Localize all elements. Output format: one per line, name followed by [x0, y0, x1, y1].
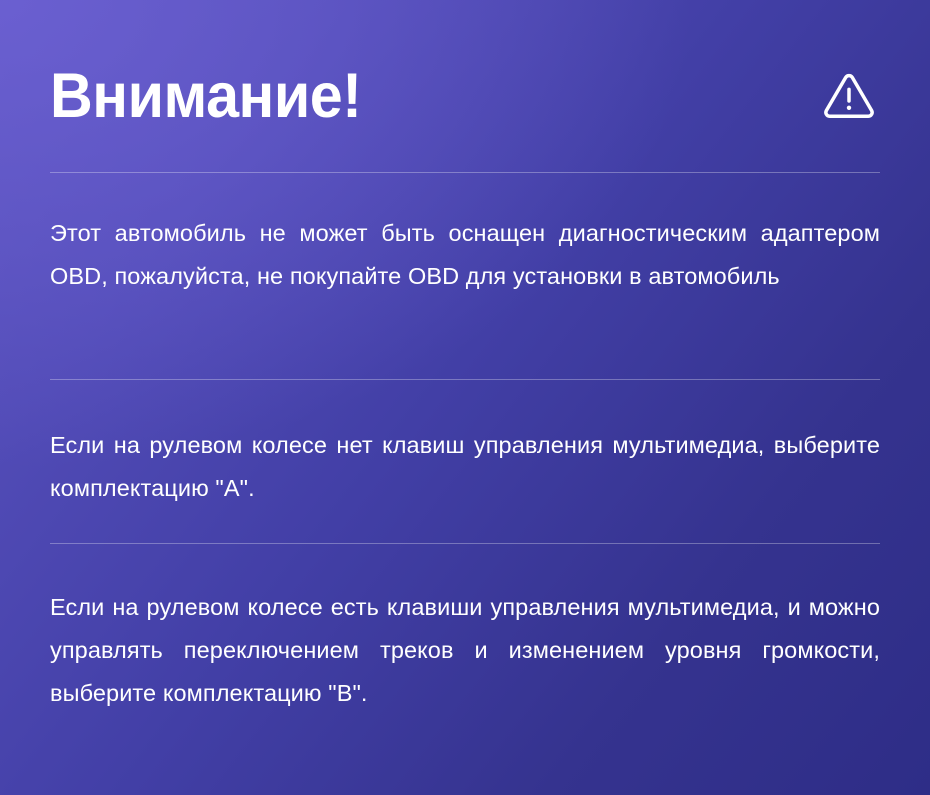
divider-bottom [50, 543, 880, 544]
notice-item-obd-not-supported: Этот автомобиль не может быть оснащен ди… [50, 212, 880, 298]
notice-text: Если на рулевом колесе есть клавиши упра… [50, 586, 880, 715]
notice-item-trim-option-b: Если на рулевом колесе есть клавиши упра… [50, 586, 880, 715]
divider-top [50, 172, 880, 173]
notice-text: Этот автомобиль не может быть оснащен ди… [50, 212, 880, 298]
page-title: Внимание! [50, 65, 362, 128]
notice-item-trim-option-a: Если на рулевом колесе нет клавиш управл… [50, 424, 880, 510]
warning-notice-card: Внимание! Этот автомобиль не может быть … [0, 0, 930, 795]
notice-text: Если на рулевом колесе нет клавиш управл… [50, 424, 880, 510]
notice-header: Внимание! [50, 52, 880, 140]
divider-middle [50, 379, 880, 380]
warning-triangle-icon [822, 70, 876, 124]
